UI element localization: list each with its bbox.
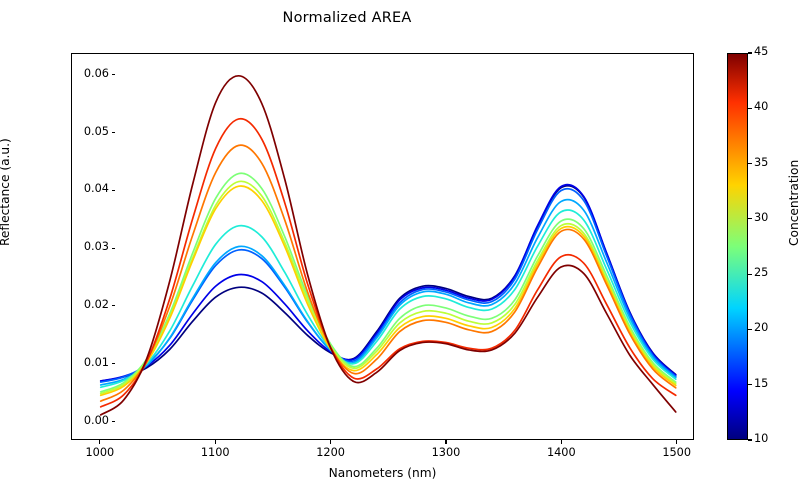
colorbar xyxy=(727,53,748,440)
series-line xyxy=(101,200,676,385)
figure-canvas: Normalized AREA Reflectance (a.u.) Nanom… xyxy=(0,0,809,492)
x-tick-label: 1500 xyxy=(662,446,691,459)
colorbar-tick-label: 15 xyxy=(754,377,768,390)
plot-axes xyxy=(71,53,694,440)
series-line xyxy=(101,186,676,395)
colorbar-tick-label: 45 xyxy=(754,45,768,58)
colorbar-tick-mark xyxy=(748,218,752,219)
x-tick-mark xyxy=(330,440,331,444)
series-line xyxy=(101,186,676,381)
colorbar-tick-mark xyxy=(748,329,752,330)
colorbar-tick-label: 35 xyxy=(754,156,768,169)
x-tick-label: 1400 xyxy=(547,446,576,459)
colorbar-tick-label: 30 xyxy=(754,211,768,224)
colorbar-tick-mark xyxy=(748,108,752,109)
x-tick-label: 1300 xyxy=(432,446,461,459)
series-line xyxy=(101,119,676,407)
series-line xyxy=(101,189,676,382)
y-tick-mark xyxy=(112,248,116,249)
x-tick-mark xyxy=(561,440,562,444)
colorbar-tick-mark xyxy=(748,52,752,53)
y-tick-mark xyxy=(112,305,116,306)
y-tick-label: 0.04 xyxy=(84,182,109,195)
y-tick-label: 0.00 xyxy=(84,414,109,427)
x-tick-label: 1000 xyxy=(85,446,114,459)
x-tick-label: 1200 xyxy=(316,446,345,459)
y-tick-label: 0.03 xyxy=(84,240,109,253)
plot-lines xyxy=(72,54,693,439)
colorbar-tick-mark xyxy=(748,384,752,385)
x-tick-mark xyxy=(215,440,216,444)
colorbar-tick-label: 10 xyxy=(754,432,768,445)
colorbar-gradient xyxy=(728,54,747,439)
colorbar-tick-label: 25 xyxy=(754,266,768,279)
y-tick-mark xyxy=(112,132,116,133)
y-tick-mark xyxy=(112,74,116,75)
y-tick-mark xyxy=(112,421,116,422)
x-axis-label: Nanometers (nm) xyxy=(71,466,694,480)
colorbar-tick-label: 40 xyxy=(754,100,768,113)
y-tick-label: 0.02 xyxy=(84,298,109,311)
y-tick-label: 0.01 xyxy=(84,356,109,369)
colorbar-tick-mark xyxy=(748,439,752,440)
x-tick-mark xyxy=(445,440,446,444)
y-axis-label: Reflectance (a.u.) xyxy=(0,138,12,246)
y-tick-mark xyxy=(112,363,116,364)
y-tick-label: 0.05 xyxy=(84,125,109,138)
colorbar-tick-label: 20 xyxy=(754,321,768,334)
x-tick-label: 1100 xyxy=(201,446,230,459)
colorbar-label: Concentration xyxy=(787,160,801,246)
y-tick-mark xyxy=(112,190,116,191)
x-tick-mark xyxy=(676,440,677,444)
colorbar-tick-mark xyxy=(748,274,752,275)
chart-title: Normalized AREA xyxy=(0,10,694,26)
y-tick-label: 0.06 xyxy=(84,67,109,80)
x-tick-mark xyxy=(99,440,100,444)
colorbar-tick-mark xyxy=(748,163,752,164)
